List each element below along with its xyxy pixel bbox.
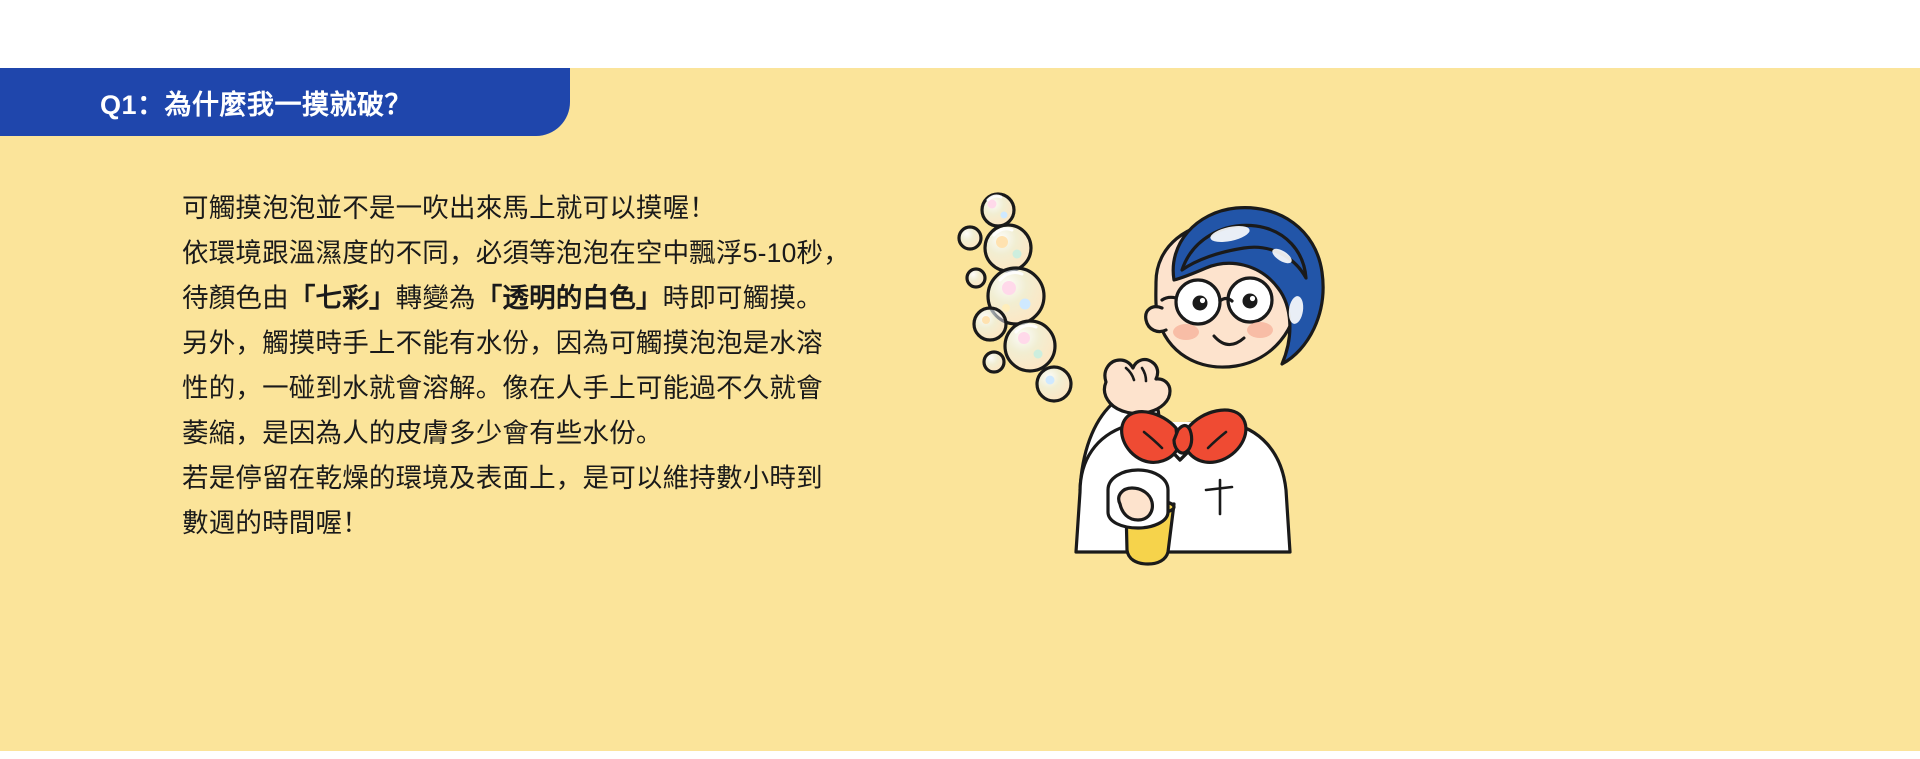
boy-blowing-bubbles-illustration bbox=[930, 160, 1360, 580]
answer-line: 可觸摸泡泡並不是一吹出來馬上就可以摸喔！ bbox=[182, 186, 882, 231]
answer-line: 若是停留在乾燥的環境及表面上，是可以維持數小時到 bbox=[182, 456, 882, 501]
bubble-cluster bbox=[959, 194, 1071, 401]
question-label: Q1：為什麼我一摸就破？ bbox=[100, 83, 412, 122]
bottom-white-strip bbox=[0, 751, 1920, 759]
hand bbox=[1104, 360, 1170, 414]
answer-line: 數週的時間喔！ bbox=[182, 501, 882, 546]
answer-line: 性的，一碰到水就會溶解。像在人手上可能過不久就會 bbox=[182, 366, 882, 411]
answer-text-block: 可觸摸泡泡並不是一吹出來馬上就可以摸喔！ 依環境跟溫濕度的不同，必須等泡泡在空中… bbox=[182, 186, 882, 546]
faq-page: Q1：為什麼我一摸就破？ 可觸摸泡泡並不是一吹出來馬上就可以摸喔！ 依環境跟溫濕… bbox=[0, 0, 1920, 759]
lower-hand bbox=[1119, 488, 1153, 520]
answer-line: 另外，觸摸時手上不能有水份，因為可觸摸泡泡是水溶 bbox=[182, 321, 882, 366]
bowtie bbox=[1122, 410, 1246, 462]
answer-line: 依環境跟溫濕度的不同，必須等泡泡在空中飄浮5-10秒， bbox=[182, 231, 882, 276]
question-banner: Q1：為什麼我一摸就破？ bbox=[0, 68, 570, 136]
answer-line: 萎縮，是因為人的皮膚多少會有些水份。 bbox=[182, 411, 882, 456]
answer-line: 待顏色由「七彩」轉變為「透明的白色」時即可觸摸。 bbox=[182, 276, 882, 321]
